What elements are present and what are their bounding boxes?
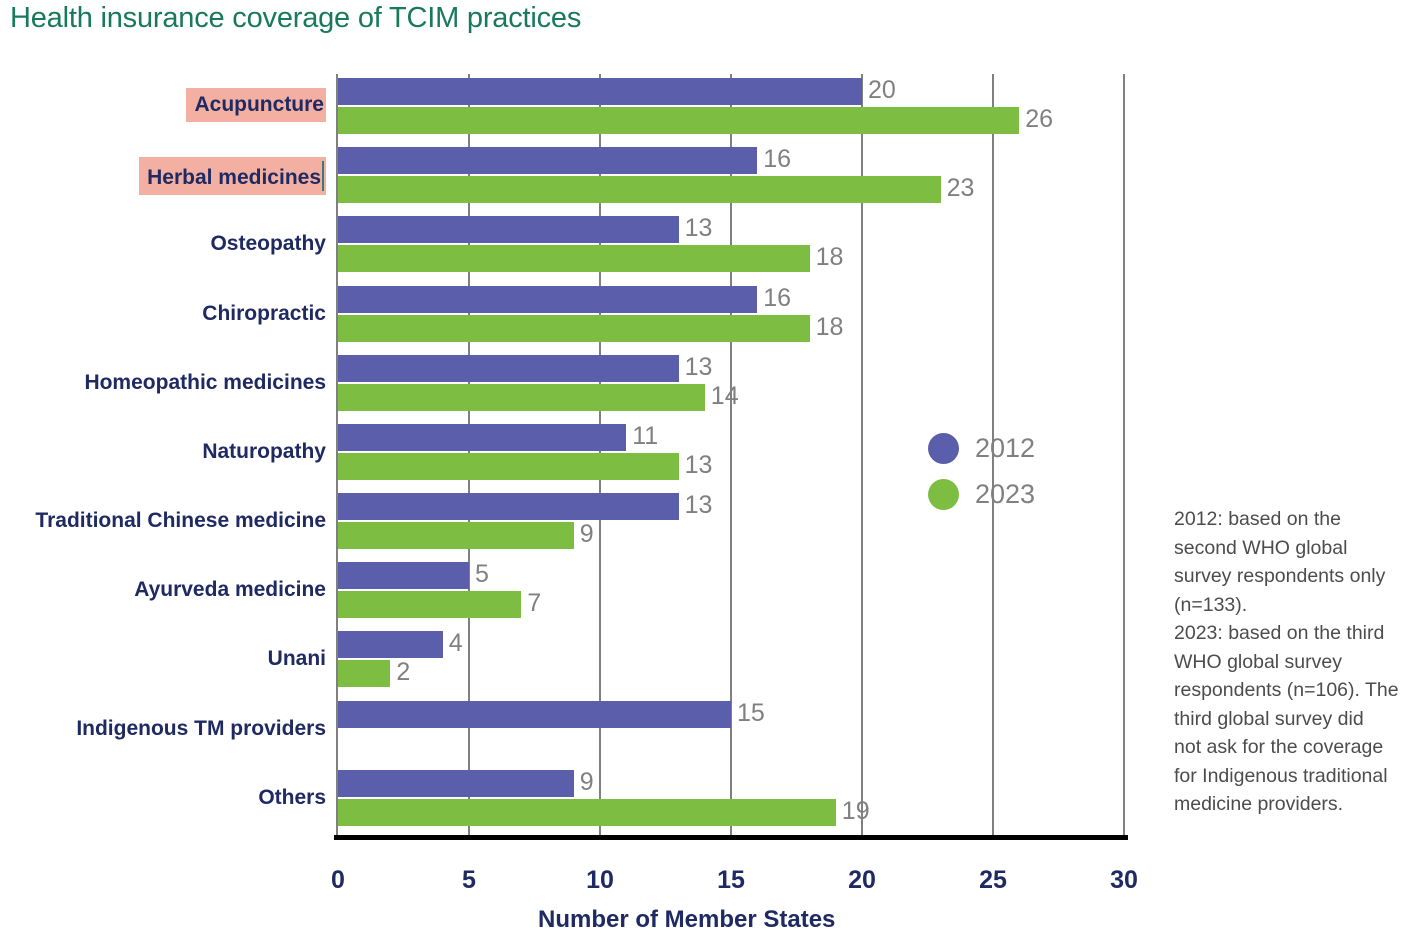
footnote-line-9: not ask for the coverage: [1174, 733, 1414, 762]
footnote-line-2: second WHO global: [1174, 534, 1414, 563]
bar-value-label: 18: [810, 314, 844, 341]
bar-value-label: 18: [810, 244, 844, 271]
bar-2012[interactable]: [338, 216, 679, 243]
bar-value-label: 13: [679, 354, 713, 381]
category-label-ayurveda-medicine[interactable]: Ayurveda medicine: [134, 576, 326, 604]
footnote-line-3: survey respondents only: [1174, 562, 1414, 591]
bar-row: 42: [338, 627, 1124, 696]
x-tick-25: 25: [979, 866, 1007, 895]
bar-value-label: 5: [469, 561, 489, 588]
category-label-text: Traditional Chinese medicine: [35, 509, 326, 532]
bar-row: 2026: [338, 74, 1124, 143]
bar-2012[interactable]: [338, 562, 469, 589]
x-tick-15: 15: [717, 866, 745, 895]
bar-2023[interactable]: [338, 660, 390, 687]
category-label-acupuncture[interactable]: Acupuncture: [186, 88, 326, 122]
bar-value-label: 13: [679, 492, 713, 519]
bar-2023[interactable]: [338, 245, 810, 272]
category-label-text: Osteopathy: [210, 232, 326, 255]
bar-row: 1314: [338, 351, 1124, 420]
bar-row: 919: [338, 766, 1124, 835]
bar-2023[interactable]: [338, 522, 574, 549]
bar-2012[interactable]: [338, 631, 443, 658]
bar-2012[interactable]: [338, 770, 574, 797]
bar-2023[interactable]: [338, 799, 836, 826]
bar-2023[interactable]: [338, 107, 1019, 134]
x-tick-30: 30: [1110, 866, 1138, 895]
legend-label-2023: 2023: [975, 479, 1035, 510]
category-label-text: Chiropractic: [202, 302, 326, 325]
bar-value-label: 26: [1019, 106, 1053, 133]
legend-swatch-circle-2023: [928, 479, 959, 510]
bar-value-label: 11: [626, 423, 658, 450]
bar-2012[interactable]: [338, 147, 757, 174]
text-cursor-caret: [322, 161, 324, 191]
category-label-text: Homeopathic medicines: [84, 371, 326, 394]
bar-2012[interactable]: [338, 701, 731, 728]
bar-value-label: 13: [679, 452, 713, 479]
category-label-naturopathy[interactable]: Naturopathy: [202, 438, 326, 466]
bar-row: 57: [338, 558, 1124, 627]
bar-2023[interactable]: [338, 176, 941, 203]
category-label-herbal-medicines[interactable]: Herbal medicines: [139, 157, 326, 195]
bar-row: 1618: [338, 282, 1124, 351]
chart-legend: 2012 2023: [928, 425, 1035, 517]
legend-item-2012[interactable]: 2012: [928, 425, 1035, 471]
category-label-text: Ayurveda medicine: [134, 578, 326, 601]
footnote-line-6: WHO global survey: [1174, 648, 1414, 677]
footnote-line-10: for Indigenous traditional: [1174, 762, 1414, 791]
category-label-homeopathic-medicines[interactable]: Homeopathic medicines: [84, 369, 326, 397]
legend-swatch-circle-2012: [928, 433, 959, 464]
bar-value-label: 14: [705, 383, 739, 410]
bar-value-label: 7: [521, 590, 541, 617]
bar-value-label: 2: [390, 659, 410, 686]
bar-2012[interactable]: [338, 355, 679, 382]
category-label-text: Naturopathy: [202, 440, 326, 463]
bar-row: 1318: [338, 212, 1124, 281]
page-title: Health insurance coverage of TCIM practi…: [10, 2, 581, 35]
footnote-text: 2012: based on the second WHO global sur…: [1174, 505, 1414, 819]
bar-row: 15: [338, 697, 1124, 766]
bar-2012[interactable]: [338, 493, 679, 520]
x-tick-5: 5: [462, 866, 476, 895]
category-label-text: Herbal medicines: [147, 166, 321, 189]
category-label-osteopathy[interactable]: Osteopathy: [210, 230, 326, 258]
footnote-line-7: respondents (n=106). The: [1174, 676, 1414, 705]
x-tick-10: 10: [586, 866, 614, 895]
category-label-text: Indigenous TM providers: [76, 717, 326, 740]
category-label-text: Acupuncture: [194, 93, 324, 116]
bar-value-label: 9: [574, 769, 594, 796]
footnote-line-1: 2012: based on the: [1174, 505, 1414, 534]
footnote-line-8: third global survey did: [1174, 705, 1414, 734]
footnote-line-11: medicine providers.: [1174, 790, 1414, 819]
category-label-indigenous-tm-providers[interactable]: Indigenous TM providers: [76, 715, 326, 743]
bar-value-label: 16: [757, 146, 791, 173]
x-axis-line: [334, 835, 1128, 840]
bar-2023[interactable]: [338, 453, 679, 480]
category-label-traditional-chinese-medicine[interactable]: Traditional Chinese medicine: [35, 507, 326, 535]
footnote-line-4: (n=133).: [1174, 591, 1414, 620]
category-label-text: Unani: [268, 647, 326, 670]
bar-value-label: 13: [679, 215, 713, 242]
category-label-others[interactable]: Others: [258, 784, 326, 812]
bar-value-label: 23: [941, 175, 975, 202]
bar-value-label: 15: [731, 700, 765, 727]
category-label-unani[interactable]: Unani: [268, 645, 326, 673]
bar-row: 1623: [338, 143, 1124, 212]
x-axis-title: Number of Member States: [538, 906, 835, 934]
bar-value-label: 9: [574, 521, 594, 548]
category-label-chiropractic[interactable]: Chiropractic: [202, 300, 326, 328]
footnote-line-5: 2023: based on the third: [1174, 619, 1414, 648]
bar-value-label: 20: [862, 77, 896, 104]
bar-value-label: 16: [757, 285, 791, 312]
bar-2012[interactable]: [338, 286, 757, 313]
category-label-text: Others: [258, 786, 326, 809]
bar-value-label: 19: [836, 798, 870, 825]
bar-2023[interactable]: [338, 315, 810, 342]
bar-2023[interactable]: [338, 591, 521, 618]
legend-item-2023[interactable]: 2023: [928, 471, 1035, 517]
x-tick-0: 0: [331, 866, 345, 895]
bar-value-label: 4: [443, 630, 463, 657]
bar-2012[interactable]: [338, 78, 862, 105]
x-tick-20: 20: [848, 866, 876, 895]
bar-2012[interactable]: [338, 424, 626, 451]
bar-2023[interactable]: [338, 384, 705, 411]
legend-label-2012: 2012: [975, 433, 1035, 464]
